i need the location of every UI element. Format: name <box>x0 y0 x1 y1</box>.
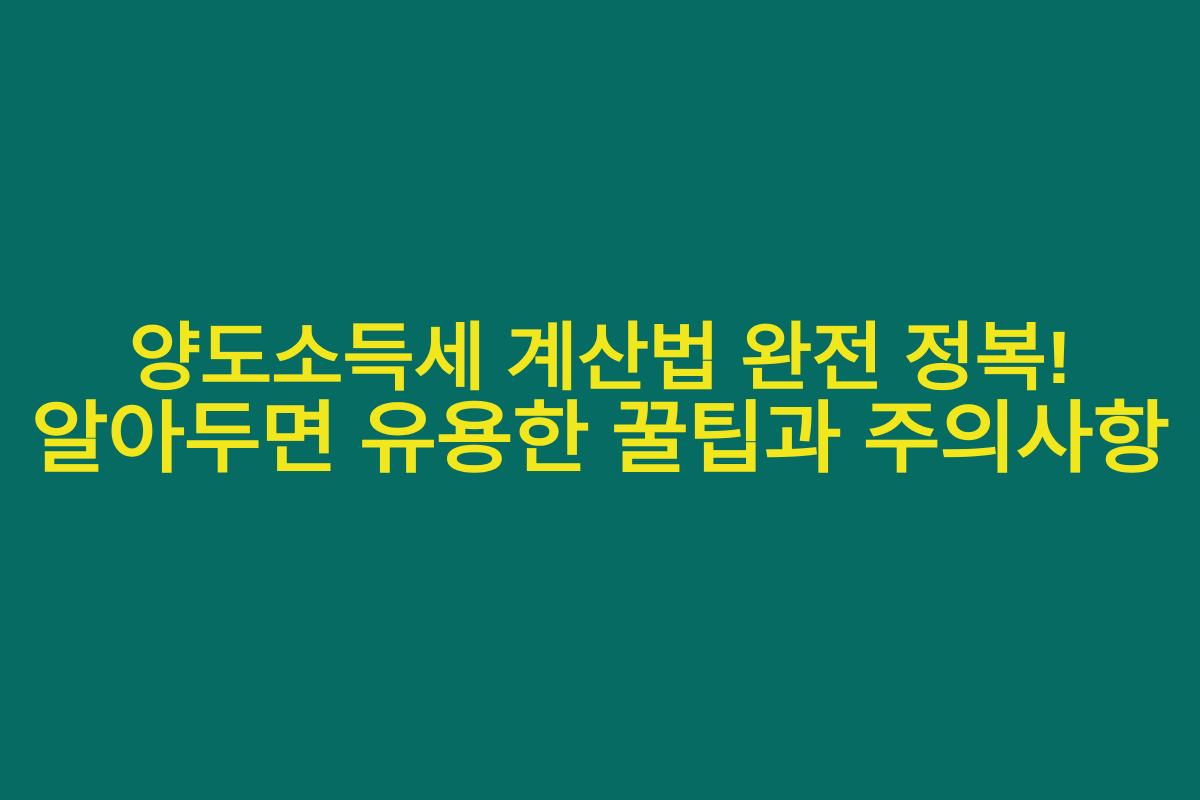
headline-line-2: 알아두면 유용한 꿀팁과 주의사항 <box>0 400 1200 477</box>
thumbnail-canvas: 양도소득세 계산법 완전 정복! 알아두면 유용한 꿀팁과 주의사항 <box>0 0 1200 800</box>
headline-line-1: 양도소득세 계산법 완전 정복! <box>0 321 1200 394</box>
headline-block: 양도소득세 계산법 완전 정복! 알아두면 유용한 꿀팁과 주의사항 <box>0 321 1200 477</box>
